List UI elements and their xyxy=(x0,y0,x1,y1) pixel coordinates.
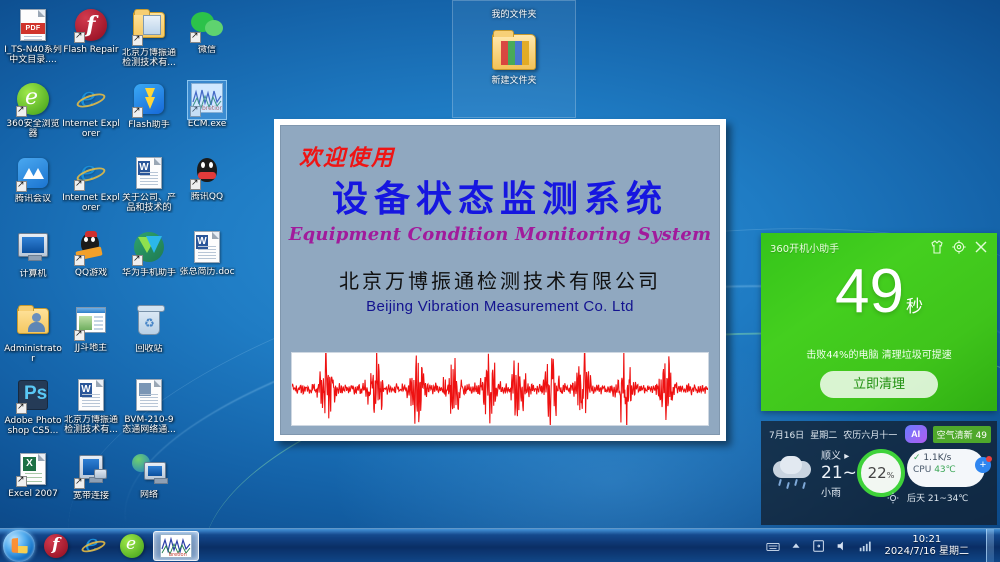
ecm-waveform-icon: bretion xyxy=(160,534,192,558)
desktop-icon-computer[interactable]: 计算机 xyxy=(4,230,62,279)
desktop-icon-label: QQ游戏 xyxy=(62,268,120,278)
weather-lunar-date: 农历六月十一 xyxy=(843,428,897,441)
splash-welcome-text: 欢迎使用 xyxy=(299,140,395,172)
splash-panel: 欢迎使用 设备状态监测系统 Equipment Condition Monito… xyxy=(280,125,720,435)
excel-icon: X xyxy=(16,453,50,487)
weather-widget[interactable]: 7月16日 星期二 农历六月十一 AI 空气清新 49 顺义 ▸ xyxy=(761,421,997,525)
desktop-icon-label: 华为手机助手 xyxy=(120,268,178,278)
taskbar-item-360-browser[interactable]: e xyxy=(115,531,149,561)
shortcut-arrow-icon xyxy=(16,476,27,487)
shortcut-arrow-icon xyxy=(16,181,27,192)
desktop-icon-label: Internet Explorer xyxy=(62,193,120,213)
desktop-icon-label: 腾讯会议 xyxy=(4,194,62,204)
desktop[interactable]: PDF I_TS-N40系列中文目录.... f Flash Repair 北京… xyxy=(0,0,1000,562)
desktop-icon-label: BVM-210-9态通网络通... xyxy=(120,415,178,435)
internet-explorer-icon: e xyxy=(74,83,108,117)
desktop-icon-pdf-catalog[interactable]: PDF I_TS-N40系列中文目录.... xyxy=(4,8,62,65)
cpu-usage-value: 22% xyxy=(868,464,895,482)
shortcut-arrow-icon xyxy=(190,179,201,190)
desktop-icon-resume-doc[interactable]: W 张总简历.doc xyxy=(178,230,236,277)
cpu-usage-unit: % xyxy=(887,471,895,480)
network-icon xyxy=(132,454,166,488)
aqi-value: 49 xyxy=(976,431,987,441)
network-signal-icon[interactable] xyxy=(858,539,872,553)
air-quality-badge[interactable]: 空气清新 49 xyxy=(933,426,991,443)
wechat-icon xyxy=(190,9,224,43)
photoshop-icon: Ps xyxy=(16,380,50,414)
browser-360-icon: e xyxy=(120,534,144,558)
cpu-temp-value: 43℃ xyxy=(934,465,956,475)
folder-popup-item[interactable]: 新建文件夹 xyxy=(453,34,575,86)
word-document-icon: W xyxy=(190,231,224,265)
desktop-icon-company-doc-2[interactable]: W 北京万博振通检测技术有... xyxy=(62,378,120,435)
taskbar-item-flash[interactable]: f xyxy=(39,531,73,561)
desktop-icon-internet-explorer-2[interactable]: e Internet Explorer xyxy=(62,156,120,213)
add-widget-button[interactable]: + xyxy=(975,457,991,473)
chevron-right-icon: ▸ xyxy=(844,451,849,462)
close-icon[interactable] xyxy=(973,239,989,255)
360-boot-seconds: 49秒 xyxy=(761,261,997,338)
svg-text:bretion: bretion xyxy=(169,552,187,557)
check-icon: ✓ xyxy=(913,453,921,463)
weather-weekday: 星期二 xyxy=(810,428,837,441)
desktop-icon-label: 北京万博振通检测技术有... xyxy=(62,415,120,435)
taskbar-item-ecm[interactable]: bretion xyxy=(153,531,199,561)
shortcut-arrow-icon xyxy=(16,403,27,414)
sun-icon xyxy=(887,491,899,503)
folder-popup-item-label: 新建文件夹 xyxy=(453,73,575,86)
desktop-icon-flash-repair[interactable]: f Flash Repair xyxy=(62,8,120,55)
shortcut-arrow-icon xyxy=(74,330,85,341)
folder-popup-title: 我的文件夹 xyxy=(453,1,575,20)
desktop-icon-label: 回收站 xyxy=(120,344,178,354)
weather-date: 7月16日 xyxy=(769,428,804,441)
internet-explorer-icon: e xyxy=(81,533,107,559)
desktop-icon-bvm-doc[interactable]: BVM-210-9态通网络通... xyxy=(120,378,178,435)
desktop-icon-label: Excel 2007 xyxy=(4,489,62,499)
qq-game-icon xyxy=(74,232,108,266)
splash-company-chinese: 北京万博振通检测技术有限公司 xyxy=(281,265,719,294)
desktop-icon-ecm-exe[interactable]: bretion ECM.exe xyxy=(178,82,236,129)
desktop-icon-label: Internet Explorer xyxy=(62,119,120,139)
desktop-icon-label: JJ斗地主 xyxy=(62,343,120,353)
splash-window[interactable]: 欢迎使用 设备状态监测系统 Equipment Condition Monito… xyxy=(274,119,726,441)
desktop-icon-internet-explorer-1[interactable]: e Internet Explorer xyxy=(62,82,120,139)
splash-title-english: Equipment Condition Monitoring System xyxy=(281,224,719,245)
ecm-waveform-icon: bretion xyxy=(190,83,224,117)
desktop-icon-label: 腾讯QQ xyxy=(178,192,236,202)
weather-city-name: 顺义 xyxy=(821,451,841,462)
360-seconds-unit: 秒 xyxy=(906,297,923,317)
clock-time: 10:21 xyxy=(885,534,969,546)
recycle-bin-icon: ♻ xyxy=(132,308,166,342)
folder-icon xyxy=(492,34,536,70)
desktop-icon-photoshop[interactable]: Ps Adobe Photoshop CS5... xyxy=(4,378,62,436)
show-desktop-button[interactable] xyxy=(986,529,994,562)
desktop-icon-label: 宽带连接 xyxy=(62,491,120,501)
desktop-icon-tencent-meeting[interactable]: 腾讯会议 xyxy=(4,156,62,204)
desktop-icon-label: Flash助手 xyxy=(120,120,178,130)
splash-title-chinese: 设备状态监测系统 xyxy=(281,178,719,220)
window-app-icon xyxy=(74,307,108,341)
pdf-document-icon: PDF xyxy=(16,9,50,43)
desktop-icon-company-intro-doc[interactable]: W 关于公司、产品和技术的介... xyxy=(120,156,178,213)
computer-icon xyxy=(16,233,50,267)
show-hidden-icons-icon[interactable] xyxy=(789,539,803,553)
clean-now-button[interactable]: 立即清理 xyxy=(820,371,938,398)
windows-logo-icon xyxy=(12,537,28,553)
360-widget-title: 360开机小助手 xyxy=(770,240,923,255)
desktop-icon-label: 计算机 xyxy=(4,269,62,279)
desktop-icon-excel-2007[interactable]: X Excel 2007 xyxy=(4,452,62,499)
cpu-temp-row: CPU 43℃ xyxy=(913,465,979,475)
clock-date: 2024/7/16 星期二 xyxy=(885,546,969,558)
word-document-icon: W xyxy=(74,379,108,413)
splash-waveform-chart xyxy=(291,352,709,426)
shortcut-arrow-icon xyxy=(132,255,143,266)
system-tray[interactable]: 10:21 2024/7/16 星期二 xyxy=(766,529,1000,562)
desktop-icon-network[interactable]: 网络 xyxy=(120,452,178,500)
360-widget-header: 360开机小助手 xyxy=(761,233,997,255)
aqi-label: 空气清新 xyxy=(937,431,973,441)
desktop-icon-flash-helper[interactable]: Flash助手 xyxy=(120,82,178,130)
rain-cloud-icon xyxy=(769,455,817,495)
desktop-icon-label: Flash Repair xyxy=(62,45,120,55)
desktop-icon-label: I_TS-N40系列中文目录.... xyxy=(4,45,62,65)
desktop-icon-wechat[interactable]: 微信 xyxy=(178,8,236,55)
shortcut-arrow-icon xyxy=(74,478,85,489)
desktop-icon-label: Adobe Photoshop CS5... xyxy=(4,416,62,436)
volume-icon[interactable] xyxy=(835,539,849,553)
desktop-icon-tencent-qq[interactable]: 腾讯QQ xyxy=(178,156,236,202)
vibration-waveform xyxy=(292,353,708,425)
desktop-icon-360-browser[interactable]: e 360安全浏览器 xyxy=(4,82,62,139)
desktop-icon-label: 张总简历.doc xyxy=(178,267,236,277)
desktop-icon-label: ECM.exe xyxy=(178,119,236,129)
360-subtext: 击败44%的电脑 清理垃圾可提速 xyxy=(761,346,997,361)
cpu-usage-ring[interactable]: 22% xyxy=(857,449,905,497)
folder-popup[interactable]: 我的文件夹 新建文件夹 xyxy=(452,0,576,118)
user-folder-icon xyxy=(16,308,50,342)
folder-icon xyxy=(132,12,166,46)
splash-company-english: Beijing Vibration Measurement Co. Ltd xyxy=(281,298,719,315)
keyboard-icon[interactable] xyxy=(766,539,780,553)
360-seconds-value: 49 xyxy=(835,257,904,326)
desktop-icon-label: 关于公司、产品和技术的介... xyxy=(120,193,178,213)
weather-forecast: 后天 21~34℃ xyxy=(907,491,968,504)
network-speed-value: 1.1K/s xyxy=(923,453,951,463)
svg-text:bretion: bretion xyxy=(202,105,222,112)
desktop-icon-label: Administrator xyxy=(4,344,62,364)
start-button[interactable] xyxy=(3,530,35,562)
desktop-icon-company-folder[interactable]: 北京万博振通检测技术有... xyxy=(120,8,178,68)
shortcut-arrow-icon xyxy=(74,180,85,191)
desktop-icon-label: 北京万博振通检测技术有... xyxy=(120,48,178,68)
cpu-temp-label: CPU xyxy=(913,465,931,475)
gear-icon[interactable] xyxy=(951,239,967,255)
cpu-usage-number: 22 xyxy=(868,464,887,482)
word-document-icon: W xyxy=(132,157,166,191)
weather-header-row: 7月16日 星期二 农历六月十一 AI 空气清新 49 xyxy=(761,421,997,443)
shortcut-arrow-icon xyxy=(74,255,85,266)
flash-icon: f xyxy=(74,9,108,43)
shortcut-arrow-icon xyxy=(74,32,85,43)
flash-helper-icon xyxy=(132,84,166,118)
network-speed-row: ✓ 1.1K/s xyxy=(913,453,979,463)
waveform-glyph: bretion xyxy=(192,84,222,112)
shirt-icon[interactable] xyxy=(929,239,945,255)
huawei-assistant-icon xyxy=(132,232,166,266)
shortcut-arrow-icon xyxy=(132,35,143,46)
shortcut-arrow-icon xyxy=(190,32,201,43)
flash-icon: f xyxy=(44,534,68,558)
action-center-icon[interactable] xyxy=(812,539,826,553)
desktop-icon-label: 360安全浏览器 xyxy=(4,119,62,139)
shortcut-arrow-icon xyxy=(190,106,201,117)
tencent-meeting-icon xyxy=(16,158,50,192)
desktop-icon-administrator[interactable]: Administrator xyxy=(4,304,62,364)
taskbar[interactable]: f e e bretion xyxy=(0,528,1000,562)
ai-button[interactable]: AI xyxy=(905,425,927,443)
desktop-icon-broadband[interactable]: 宽带连接 xyxy=(62,452,120,501)
internet-explorer-icon: e xyxy=(74,157,108,191)
qq-penguin-icon xyxy=(190,156,224,190)
clock[interactable]: 10:21 2024/7/16 星期二 xyxy=(881,534,973,558)
desktop-icon-huawei-assistant[interactable]: 华为手机助手 xyxy=(120,230,178,278)
system-status-pill[interactable]: ✓ 1.1K/s CPU 43℃ + xyxy=(907,449,985,487)
shortcut-arrow-icon xyxy=(16,106,27,117)
browser-360-icon: e xyxy=(16,83,50,117)
desktop-icon-recycle-bin[interactable]: ♻ 回收站 xyxy=(120,304,178,354)
desktop-icon-label: 网络 xyxy=(120,490,178,500)
desktop-icon-qq-game[interactable]: QQ游戏 xyxy=(62,230,120,278)
text-document-icon xyxy=(132,379,166,413)
weather-body-row: 顺义 ▸ 21~31 小雨 22% ✓ 1.1K/s CPU 43℃ xyxy=(761,443,997,515)
taskbar-item-internet-explorer[interactable]: e xyxy=(77,531,111,561)
desktop-icon-jj-game[interactable]: JJ斗地主 xyxy=(62,304,120,353)
desktop-icon-label: 微信 xyxy=(178,45,236,55)
360-boot-assistant-widget[interactable]: 360开机小助手 49秒 击败44%的电脑 清理垃圾可提速 立即清理 xyxy=(761,233,997,411)
broadband-connection-icon xyxy=(74,455,108,489)
shortcut-arrow-icon xyxy=(132,107,143,118)
